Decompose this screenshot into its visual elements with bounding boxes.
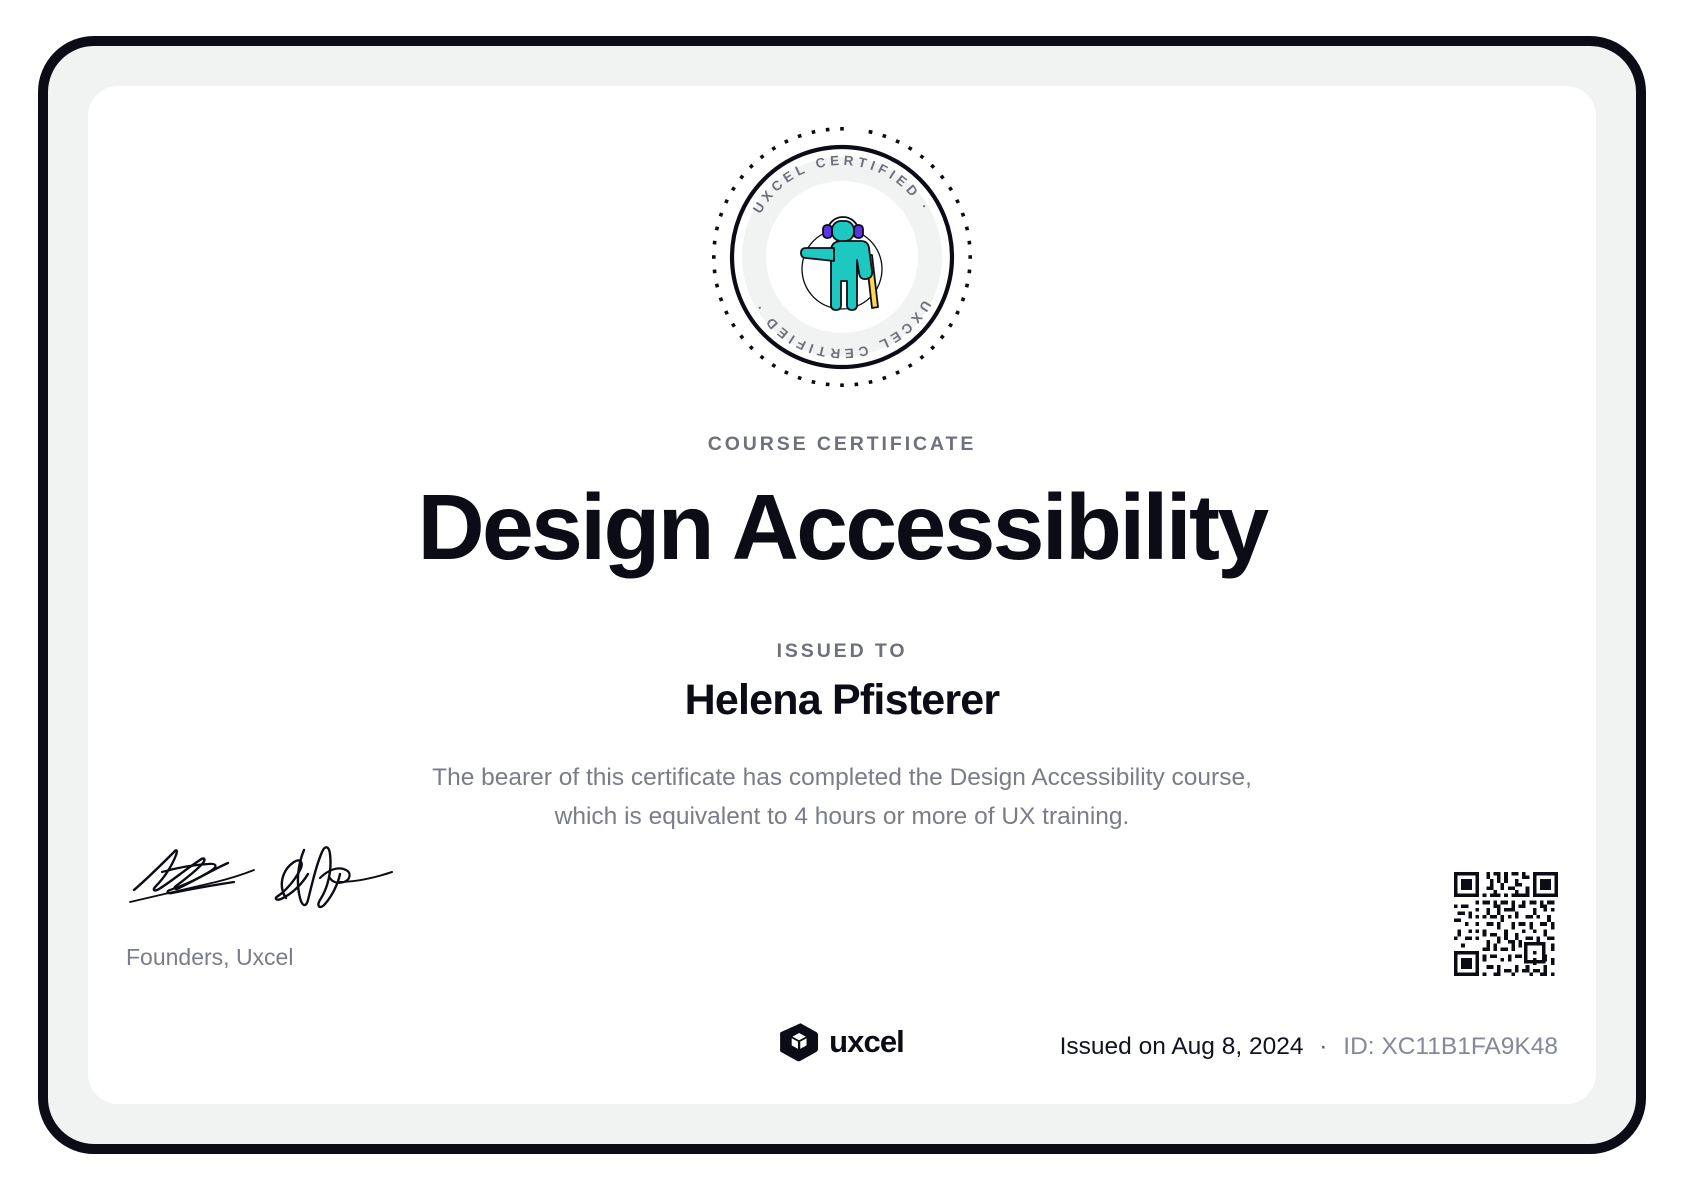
description-line-1: The bearer of this certificate has compl…	[88, 758, 1596, 797]
issued-to-label: ISSUED TO	[88, 640, 1596, 663]
course-certificate-label: COURSE CERTIFICATE	[88, 433, 1596, 456]
uxcel-certified-seal: UXCEL CERTIFIED · UXCEL CERTIFIED ·	[706, 121, 978, 393]
issued-on-date: Issued on Aug 8, 2024	[1060, 1033, 1304, 1060]
brand-wordmark: uxcel	[829, 1024, 904, 1060]
description-line-2: which is equivalent to 4 hours or more o…	[88, 797, 1596, 836]
qr-code[interactable]	[1454, 872, 1558, 976]
certificate-id: ID: XC11B1FA9K48	[1343, 1033, 1558, 1060]
signature-block: Founders, Uxcel	[126, 838, 546, 971]
brand-logo: uxcel	[780, 1022, 904, 1062]
certificate-description: The bearer of this certificate has compl…	[88, 758, 1596, 836]
meta-separator: ·	[1319, 1033, 1327, 1060]
founders-label: Founders, Uxcel	[126, 944, 546, 971]
recipient-name: Helena Pfisterer	[88, 672, 1596, 728]
certificate-frame: UXCEL CERTIFIED · UXCEL CERTIFIED ·	[38, 36, 1646, 1154]
uxcel-cube-logo-icon	[780, 1022, 818, 1062]
issue-meta: Issued on Aug 8, 2024 · ID: XC11B1FA9K48	[1060, 1032, 1558, 1062]
certificate-card: UXCEL CERTIFIED · UXCEL CERTIFIED ·	[88, 86, 1596, 1104]
page-title: Design Accessibility	[88, 475, 1596, 579]
founders-signatures	[126, 838, 416, 926]
